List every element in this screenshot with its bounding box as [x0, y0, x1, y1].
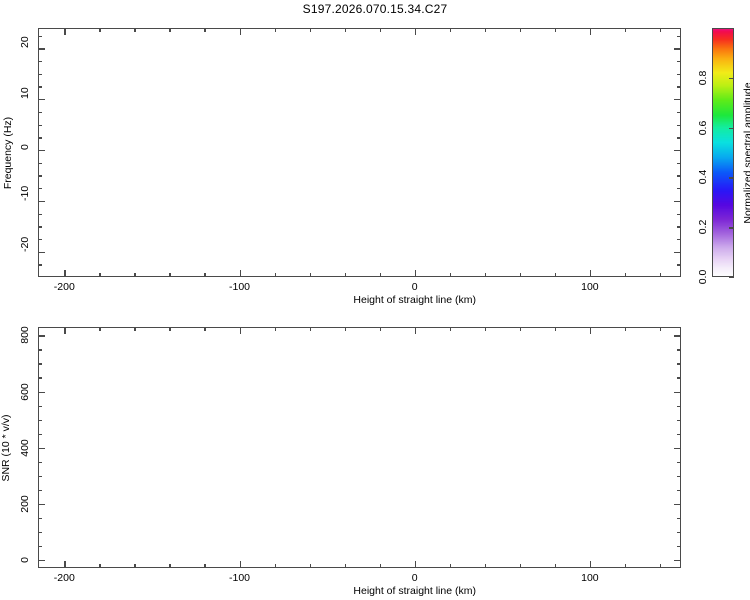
spectrogram-xtick-top [590, 28, 591, 35]
spectrogram-xtick-top [99, 28, 100, 32]
spectrogram-xtick-top [520, 28, 521, 32]
spectrogram-xtick-top [555, 28, 556, 32]
spectrogram-xtick-top [345, 28, 346, 32]
spectrogram-ytick-right [677, 226, 681, 227]
snr-ytick [38, 476, 42, 477]
spectrogram-ytick [38, 214, 42, 215]
spectrogram-ytick [38, 239, 42, 240]
snr-ytick-right [677, 490, 681, 491]
snr-ytick-right [677, 377, 681, 378]
spectrogram-xtick-top [485, 28, 486, 32]
snr-xtick-top [450, 327, 451, 331]
snr-ytick-right [674, 448, 681, 449]
spectrogram-xtick [99, 273, 100, 277]
spectrogram-frame [38, 28, 681, 277]
spectrogram-xtick [204, 273, 205, 277]
snr-xtick [520, 564, 521, 568]
spectrogram-xtick [240, 270, 241, 277]
spectrogram-ytick [38, 201, 45, 202]
spectrogram-ytick-right [677, 175, 681, 176]
spectrogram-ytick-right [677, 188, 681, 189]
spectrogram-xtick [450, 273, 451, 277]
snr-xtick [99, 564, 100, 568]
snr-xtick [240, 561, 241, 568]
snr-ytick-right [677, 546, 681, 547]
snr-ytick-right [677, 462, 681, 463]
spectrogram-xtick-top [415, 28, 416, 35]
snr-ytick-right [674, 335, 681, 336]
snr-ytick [38, 560, 45, 561]
spectrogram-ytick-right [677, 112, 681, 113]
spectrogram-xtick [134, 273, 135, 277]
snr-xtick-top [345, 327, 346, 331]
spectrogram-xticklabel: 0 [412, 281, 418, 293]
snr-xticklabel: -200 [54, 572, 75, 584]
snr-panel [38, 327, 681, 568]
spectrogram-ytick-right [677, 86, 681, 87]
snr-ytick [38, 462, 42, 463]
spectrogram-ytick-right [677, 163, 681, 164]
snr-xtick-top [240, 327, 241, 334]
snr-yticklabel: 0 [19, 557, 31, 563]
spectrogram-ytick [38, 175, 42, 176]
spectrogram-xtick-top [240, 28, 241, 35]
snr-xticklabel: 100 [581, 572, 599, 584]
snr-xtick [134, 564, 135, 568]
colorbar-frame [712, 28, 734, 277]
spectrogram-ytick-right [674, 252, 681, 253]
spectrogram-xtick-top [450, 28, 451, 32]
snr-yticklabel: 400 [19, 439, 31, 457]
snr-xtick-top [134, 327, 135, 331]
figure-root: S197.2026.070.15.34.C27 -200-1000100-20-… [0, 0, 750, 600]
spectrogram-ytick-right [677, 214, 681, 215]
snr-ytick [38, 406, 42, 407]
spectrogram-ytick [38, 150, 45, 151]
snr-xtick-top [555, 327, 556, 331]
snr-ytick-right [674, 392, 681, 393]
snr-xtick-top [204, 327, 205, 331]
snr-ytick [38, 504, 45, 505]
spectrogram-xtick [590, 270, 591, 277]
snr-ytick [38, 349, 42, 350]
spectrogram-ytick [38, 163, 42, 164]
snr-ytick-right [677, 476, 681, 477]
spectrogram-yaxis-title: Frequency (Hz) [2, 116, 14, 188]
spectrogram-xtick [485, 273, 486, 277]
colorbar-tick [729, 177, 734, 178]
snr-xtick [590, 561, 591, 568]
colorbar-tick [729, 277, 734, 278]
snr-xtick-top [64, 327, 65, 334]
snr-ytick-right [677, 518, 681, 519]
spectrogram-xtick-top [380, 28, 381, 32]
snr-xtick-top [485, 327, 486, 331]
snr-ytick-right [677, 406, 681, 407]
snr-xtick [275, 564, 276, 568]
snr-yticklabel: 600 [19, 383, 31, 401]
spectrogram-xtick [660, 273, 661, 277]
colorbar-tick [729, 128, 734, 129]
snr-ytick [38, 335, 45, 336]
snr-xtick-top [625, 327, 626, 331]
snr-xtick [485, 564, 486, 568]
spectrogram-xtick [380, 273, 381, 277]
spectrogram-ytick-right [677, 137, 681, 138]
snr-ytick-right [674, 560, 681, 561]
spectrogram-xtick [310, 273, 311, 277]
spectrogram-ytick-right [677, 264, 681, 265]
spectrogram-ytick [38, 226, 42, 227]
spectrogram-xaxis-title: Height of straight line (km) [353, 294, 476, 306]
spectrogram-ytick [38, 99, 45, 100]
colorbar-ticklabel: 0.2 [697, 220, 709, 235]
spectrogram-ytick [38, 86, 42, 87]
spectrogram-ytick-right [677, 239, 681, 240]
snr-xtick-top [520, 327, 521, 331]
snr-yticklabel: 200 [19, 495, 31, 513]
colorbar-ticklabel: 0.8 [697, 70, 709, 85]
spectrogram-xtick-top [310, 28, 311, 32]
spectrogram-ytick-right [677, 74, 681, 75]
snr-ytick [38, 434, 42, 435]
snr-ytick [38, 518, 42, 519]
spectrogram-xtick-top [625, 28, 626, 32]
spectrogram-ytick-right [677, 61, 681, 62]
spectrogram-xticklabel: -200 [54, 281, 75, 293]
snr-xtick [310, 564, 311, 568]
spectrogram-xtick [520, 273, 521, 277]
colorbar-tick [729, 227, 734, 228]
spectrogram-xticklabel: -100 [229, 281, 250, 293]
spectrogram-ytick [38, 137, 42, 138]
snr-ytick-right [677, 349, 681, 350]
colorbar-axis-title: Normalized spectral amplitude [742, 82, 750, 223]
spectrogram-ytick-right [674, 201, 681, 202]
spectrogram-xtick [169, 273, 170, 277]
snr-xticklabel: 0 [412, 572, 418, 584]
spectrogram-ytick-right [674, 48, 681, 49]
snr-xtick [660, 564, 661, 568]
spectrogram-xtick-top [64, 28, 65, 35]
spectrogram-xtick-top [204, 28, 205, 32]
snr-ytick [38, 377, 42, 378]
spectrogram-ytick [38, 252, 45, 253]
snr-xtick-top [415, 327, 416, 334]
snr-yticklabel: 800 [19, 327, 31, 345]
snr-ytick-right [677, 532, 681, 533]
spectrogram-xticklabel: 100 [581, 281, 599, 293]
spectrogram-ytick [38, 61, 42, 62]
snr-ytick [38, 420, 42, 421]
snr-xtick-top [660, 327, 661, 331]
snr-xtick [555, 564, 556, 568]
snr-xtick [169, 564, 170, 568]
colorbar-ticklabel: 0.0 [697, 270, 709, 285]
snr-ytick-right [677, 434, 681, 435]
spectrogram-xtick [625, 273, 626, 277]
colorbar-tick [729, 78, 734, 79]
spectrogram-ytick-right [674, 99, 681, 100]
spectrogram-ytick [38, 112, 42, 113]
snr-xtick-top [275, 327, 276, 331]
snr-xticklabel: -100 [229, 572, 250, 584]
spectrogram-ytick-right [674, 150, 681, 151]
snr-xtick [64, 561, 65, 568]
snr-xtick-top [310, 327, 311, 331]
spectrogram-xtick-top [660, 28, 661, 32]
snr-ytick [38, 363, 42, 364]
spectrogram-ytick-right [677, 125, 681, 126]
snr-ytick [38, 546, 42, 547]
colorbar-ticklabel: 0.4 [697, 170, 709, 185]
snr-ytick-right [677, 363, 681, 364]
spectrogram-ytick [38, 125, 42, 126]
snr-ytick [38, 448, 45, 449]
spectrogram-ytick [38, 188, 42, 189]
spectrogram-xtick [555, 273, 556, 277]
spectrogram-ytick [38, 48, 45, 49]
snr-xtick-top [590, 327, 591, 334]
snr-xtick [204, 564, 205, 568]
snr-ytick [38, 392, 45, 393]
snr-xtick [380, 564, 381, 568]
spectrogram-xtick [275, 273, 276, 277]
snr-ytick-right [674, 504, 681, 505]
colorbar-ticklabel: 0.6 [697, 120, 709, 135]
snr-xtick-top [169, 327, 170, 331]
spectrogram-ytick [38, 264, 42, 265]
spectrogram-panel [38, 28, 681, 277]
snr-xtick [450, 564, 451, 568]
spectrogram-xtick [64, 270, 65, 277]
spectrogram-ytick [38, 36, 42, 37]
colorbar-panel [712, 28, 734, 277]
snr-ytick [38, 532, 42, 533]
snr-frame [38, 327, 681, 568]
spectrogram-xtick-top [134, 28, 135, 32]
snr-xtick [625, 564, 626, 568]
snr-xtick-top [380, 327, 381, 331]
snr-xtick-top [99, 327, 100, 331]
snr-yaxis-title: SNR (10 * v/v) [0, 414, 12, 481]
snr-xaxis-title: Height of straight line (km) [353, 585, 476, 597]
spectrogram-xtick [415, 270, 416, 277]
figure-title: S197.2026.070.15.34.C27 [0, 2, 750, 16]
snr-ytick [38, 490, 42, 491]
spectrogram-xtick-top [169, 28, 170, 32]
spectrogram-ytick-right [677, 36, 681, 37]
snr-ytick-right [677, 420, 681, 421]
snr-xtick [345, 564, 346, 568]
snr-xtick [415, 561, 416, 568]
spectrogram-ytick [38, 74, 42, 75]
spectrogram-xtick [345, 273, 346, 277]
spectrogram-xtick-top [275, 28, 276, 32]
